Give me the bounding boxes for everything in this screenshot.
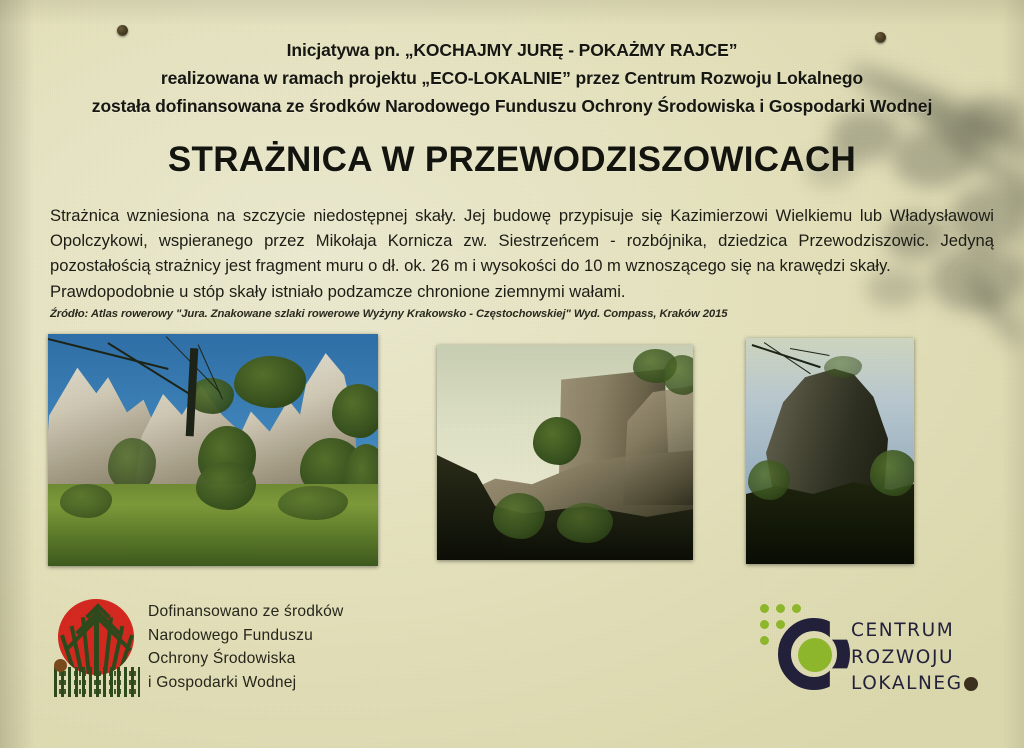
centrum-rozwoju-lokalnego-logo	[752, 598, 856, 698]
photo1-shrub-2	[60, 484, 112, 518]
nfosigw-text-line-1: Dofinansowano ze środków	[148, 600, 344, 624]
nfosigw-logo	[54, 597, 140, 697]
screw-top-left	[117, 25, 128, 36]
crl-dot-r3c1	[760, 636, 769, 645]
initiative-line-2: realizowana w ramach projektu „ECO-LOKAL…	[0, 66, 1024, 90]
photo1-tree-1	[234, 356, 306, 408]
photo2-shrub-2	[557, 503, 613, 543]
crl-dot-r1c1	[760, 604, 769, 613]
nfosigw-text-line-3: Ochrony Środowiska	[148, 647, 344, 671]
nfosigw-tree-mark	[58, 599, 134, 675]
nfosigw-text-line-4: i Gospodarki Wodnej	[148, 671, 344, 695]
photo2-shrub-1	[493, 493, 545, 539]
photo-limestone-cliffs-meadow	[48, 334, 378, 566]
photo3-crown	[824, 356, 862, 378]
crl-dot-r1c3	[792, 604, 801, 613]
crl-green-circle	[798, 638, 832, 672]
initiative-line-1: Inicjatywa pn. „KOCHAJMY JURĘ - POKAŻMY …	[0, 38, 1024, 62]
crl-text-line-3-row: LOKALNEG	[851, 671, 978, 698]
nfosigw-wave-2	[54, 680, 140, 685]
page-title: STRAŻNICA W PRZEWODZISZOWICACH	[0, 140, 1024, 180]
photo-rock-crag-silhouette	[746, 338, 914, 564]
description-last-line: Prawdopodobnie u stóp skały istniało pod…	[50, 279, 994, 304]
photo2-tree-2	[663, 355, 693, 395]
initiative-line-3: została dofinansowana ze środków Narodow…	[0, 94, 1024, 118]
nfosigw-wave-3	[54, 689, 140, 694]
nfosigw-wave-1	[54, 671, 140, 676]
nfosigw-acorn	[54, 659, 67, 672]
crl-text-line-2: ROZWOJU	[851, 645, 978, 672]
photo1-shrub-3	[278, 486, 348, 520]
photo1-shrub-1	[196, 462, 256, 510]
nfosigw-funding-text: Dofinansowano ze środków Narodowego Fund…	[148, 600, 344, 695]
crl-dot-r2c2	[776, 620, 785, 629]
photo1-tree-3	[332, 384, 378, 438]
crl-text-line-3: LOKALNEG	[851, 673, 963, 694]
description-paragraph: Strażnica wzniesiona na szczycie niedost…	[50, 203, 994, 304]
information-board: Inicjatywa pn. „KOCHAJMY JURĘ - POKAŻMY …	[0, 0, 1024, 748]
source-citation: Źródło: Atlas rowerowy "Jura. Znakowane …	[50, 308, 810, 320]
photo-watchtower-wall-on-rock	[437, 345, 693, 560]
crl-dot-r1c2	[776, 604, 785, 613]
nfosigw-text-line-2: Narodowego Funduszu	[148, 624, 344, 648]
photo2-tree-3	[533, 417, 581, 465]
description-text: Strażnica wzniesiona na szczycie niedost…	[50, 206, 994, 275]
photo3-shrub-2	[748, 460, 790, 500]
crl-final-o-dot	[964, 677, 978, 691]
crl-dot-r2c1	[760, 620, 769, 629]
screw-top-right	[875, 32, 886, 43]
photo3-shrub-1	[870, 450, 914, 496]
crl-wordmark: CENTRUM ROZWOJU LOKALNEG	[851, 618, 978, 698]
crl-text-line-1: CENTRUM	[851, 618, 978, 645]
